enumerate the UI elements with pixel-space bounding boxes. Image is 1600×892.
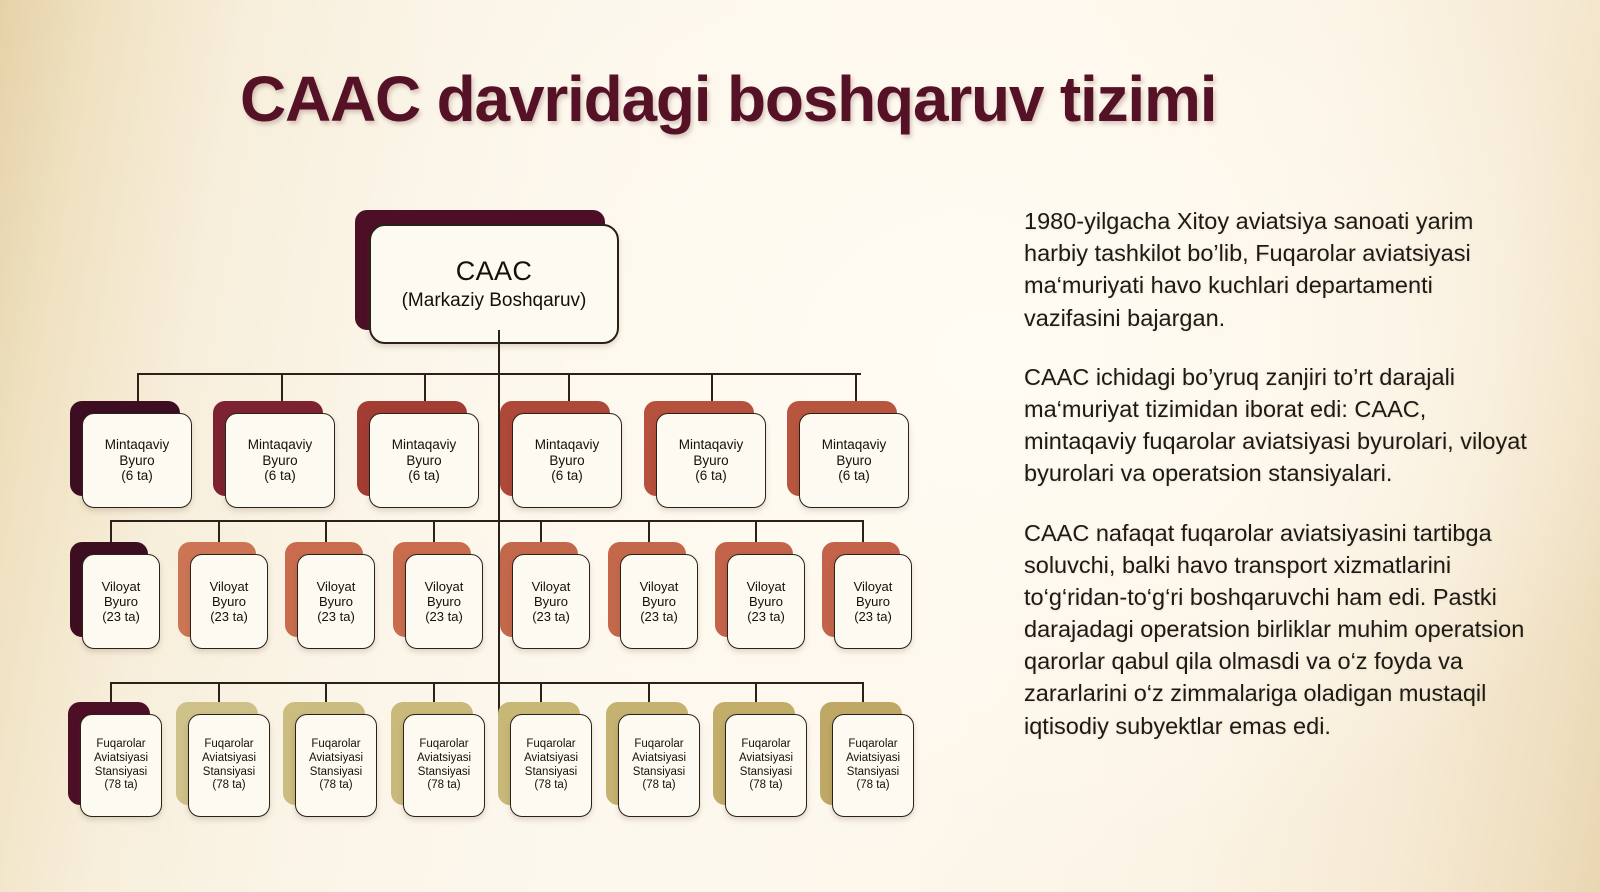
- node-count: (78 ta): [212, 779, 245, 793]
- node-fuqarolar-aviatsiyasi-stansiyasi[interactable]: Fuqarolar Aviatsiyasi Stansiyasi (78 ta): [176, 702, 258, 805]
- node-card: Viloyat Byuro (23 ta): [297, 554, 375, 649]
- connector-tier3-drop-3: [325, 682, 327, 702]
- node-count: (23 ta): [854, 609, 892, 624]
- org-chart: CAAC (Markaziy Boshqaruv) Mintaqaviy Byu…: [0, 190, 960, 830]
- node-card: Mintaqaviy Byuro (6 ta): [369, 413, 479, 508]
- node-line-2: Byuro: [836, 453, 871, 469]
- node-line-2: Byuro: [262, 453, 297, 469]
- connector-tier3-drop-4: [433, 682, 435, 702]
- node-line-2: Byuro: [104, 594, 138, 609]
- node-fuqarolar-aviatsiyasi-stansiyasi[interactable]: Fuqarolar Aviatsiyasi Stansiyasi (78 ta): [498, 702, 580, 805]
- node-viloyat-byuro[interactable]: Viloyat Byuro (23 ta): [608, 542, 686, 637]
- connector-tier3-bus: [110, 682, 862, 684]
- node-card: Mintaqaviy Byuro (6 ta): [225, 413, 335, 508]
- node-count: (23 ta): [640, 609, 678, 624]
- node-card: Fuqarolar Aviatsiyasi Stansiyasi (78 ta): [295, 714, 377, 817]
- node-count: (78 ta): [534, 779, 567, 793]
- node-line-2: Byuro: [119, 453, 154, 469]
- node-card: Viloyat Byuro (23 ta): [82, 554, 160, 649]
- node-card: Fuqarolar Aviatsiyasi Stansiyasi (78 ta): [618, 714, 700, 817]
- node-line-2: Byuro: [534, 594, 568, 609]
- node-line-2: Aviatsiyasi: [309, 752, 363, 766]
- node-card: CAAC (Markaziy Boshqaruv): [369, 224, 619, 344]
- node-card: Mintaqaviy Byuro (6 ta): [656, 413, 766, 508]
- node-line-1: Mintaqaviy: [535, 437, 600, 453]
- node-line-2: Byuro: [549, 453, 584, 469]
- connector-tier1-drop-3: [424, 373, 426, 401]
- connector-tier3-drop-1: [110, 682, 112, 702]
- paragraph-3: CAAC nafaqat fuqarolar aviatsiyasini tar…: [1024, 517, 1530, 742]
- node-fuqarolar-aviatsiyasi-stansiyasi[interactable]: Fuqarolar Aviatsiyasi Stansiyasi (78 ta): [606, 702, 688, 805]
- node-line-3: Stansiyasi: [95, 766, 147, 780]
- connector-tier1-drop-2: [281, 373, 283, 401]
- node-viloyat-byuro[interactable]: Viloyat Byuro (23 ta): [70, 542, 148, 637]
- connector-tier2-drop-6: [648, 520, 650, 542]
- node-line-3: Stansiyasi: [203, 766, 255, 780]
- connector-tier1-drop-5: [711, 373, 713, 401]
- paragraph-1: 1980-yilgacha Xitoy aviatsiya sanoati ya…: [1024, 205, 1530, 334]
- node-card: Fuqarolar Aviatsiyasi Stansiyasi (78 ta): [188, 714, 270, 817]
- node-count: (6 ta): [551, 468, 583, 484]
- connector-tier1-drop-1: [137, 373, 139, 401]
- description-column: 1980-yilgacha Xitoy aviatsiya sanoati ya…: [1024, 205, 1530, 742]
- node-line-2: Byuro: [749, 594, 783, 609]
- node-card: Viloyat Byuro (23 ta): [190, 554, 268, 649]
- node-card: Viloyat Byuro (23 ta): [620, 554, 698, 649]
- node-count: (78 ta): [104, 779, 137, 793]
- node-line-1: Fuqarolar: [634, 738, 683, 752]
- node-count: (23 ta): [102, 609, 140, 624]
- node-count: (23 ta): [747, 609, 785, 624]
- connector-tier2-drop-5: [540, 520, 542, 542]
- connector-tier3-drop-6: [648, 682, 650, 702]
- node-line-1: Mintaqaviy: [679, 437, 744, 453]
- connector-tier2-drop-1: [110, 520, 112, 542]
- node-card: Fuqarolar Aviatsiyasi Stansiyasi (78 ta): [510, 714, 592, 817]
- node-mintaqaviy-byuro[interactable]: Mintaqaviy Byuro (6 ta): [70, 401, 180, 496]
- node-card: Viloyat Byuro (23 ta): [405, 554, 483, 649]
- node-line-1: Viloyat: [102, 579, 141, 594]
- node-line-1: Fuqarolar: [204, 738, 253, 752]
- node-line-2: Byuro: [856, 594, 890, 609]
- connector-tier1-drop-6: [855, 373, 857, 401]
- node-card: Fuqarolar Aviatsiyasi Stansiyasi (78 ta): [832, 714, 914, 817]
- node-card: Fuqarolar Aviatsiyasi Stansiyasi (78 ta): [403, 714, 485, 817]
- node-line-2: Aviatsiyasi: [632, 752, 686, 766]
- node-viloyat-byuro[interactable]: Viloyat Byuro (23 ta): [285, 542, 363, 637]
- node-line-2: Aviatsiyasi: [94, 752, 148, 766]
- node-line-1: Viloyat: [747, 579, 786, 594]
- node-count: (78 ta): [856, 779, 889, 793]
- node-line-2: Byuro: [693, 453, 728, 469]
- node-line-3: Stansiyasi: [418, 766, 470, 780]
- node-line-2: Byuro: [642, 594, 676, 609]
- root-subtitle: (Markaziy Boshqaruv): [402, 290, 587, 312]
- node-count: (23 ta): [425, 609, 463, 624]
- node-line-2: Aviatsiyasi: [739, 752, 793, 766]
- connector-tier2-bus: [110, 520, 862, 522]
- node-card: Fuqarolar Aviatsiyasi Stansiyasi (78 ta): [80, 714, 162, 817]
- node-fuqarolar-aviatsiyasi-stansiyasi[interactable]: Fuqarolar Aviatsiyasi Stansiyasi (78 ta): [820, 702, 902, 805]
- infographic-page: CAAC davridagi boshqaruv tizimi CAAC (Ma…: [0, 0, 1600, 892]
- node-mintaqaviy-byuro[interactable]: Mintaqaviy Byuro (6 ta): [357, 401, 467, 496]
- node-mintaqaviy-byuro[interactable]: Mintaqaviy Byuro (6 ta): [500, 401, 610, 496]
- node-caac-root[interactable]: CAAC (Markaziy Boshqaruv): [355, 210, 605, 330]
- node-line-1: Viloyat: [317, 579, 356, 594]
- node-line-2: Aviatsiyasi: [846, 752, 900, 766]
- node-count: (23 ta): [532, 609, 570, 624]
- node-card: Viloyat Byuro (23 ta): [512, 554, 590, 649]
- node-card: Mintaqaviy Byuro (6 ta): [82, 413, 192, 508]
- connector-tier2-drop-3: [325, 520, 327, 542]
- root-title: CAAC: [456, 256, 533, 288]
- node-count: (6 ta): [695, 468, 727, 484]
- node-count: (6 ta): [121, 468, 153, 484]
- node-viloyat-byuro[interactable]: Viloyat Byuro (23 ta): [393, 542, 471, 637]
- node-line-3: Stansiyasi: [525, 766, 577, 780]
- node-count: (6 ta): [408, 468, 440, 484]
- node-line-3: Stansiyasi: [310, 766, 362, 780]
- node-line-2: Aviatsiyasi: [524, 752, 578, 766]
- page-title: CAAC davridagi boshqaruv tizimi: [240, 62, 1216, 136]
- node-count: (78 ta): [642, 779, 675, 793]
- node-line-1: Fuqarolar: [311, 738, 360, 752]
- connector-tier3-drop-5: [540, 682, 542, 702]
- node-count: (78 ta): [427, 779, 460, 793]
- node-line-2: Byuro: [319, 594, 353, 609]
- node-mintaqaviy-byuro[interactable]: Mintaqaviy Byuro (6 ta): [644, 401, 754, 496]
- connector-tier2-drop-2: [218, 520, 220, 542]
- node-viloyat-byuro[interactable]: Viloyat Byuro (23 ta): [178, 542, 256, 637]
- node-line-1: Mintaqaviy: [105, 437, 170, 453]
- node-mintaqaviy-byuro[interactable]: Mintaqaviy Byuro (6 ta): [213, 401, 323, 496]
- node-line-2: Byuro: [406, 453, 441, 469]
- node-fuqarolar-aviatsiyasi-stansiyasi[interactable]: Fuqarolar Aviatsiyasi Stansiyasi (78 ta): [391, 702, 473, 805]
- connector-tier2-drop-4: [433, 520, 435, 542]
- node-mintaqaviy-byuro[interactable]: Mintaqaviy Byuro (6 ta): [787, 401, 897, 496]
- node-count: (6 ta): [838, 468, 870, 484]
- node-line-1: Fuqarolar: [741, 738, 790, 752]
- node-line-2: Aviatsiyasi: [202, 752, 256, 766]
- node-viloyat-byuro[interactable]: Viloyat Byuro (23 ta): [822, 542, 900, 637]
- connector-tier3-drop-2: [218, 682, 220, 702]
- node-line-1: Viloyat: [210, 579, 249, 594]
- node-card: Viloyat Byuro (23 ta): [727, 554, 805, 649]
- node-line-2: Byuro: [212, 594, 246, 609]
- node-viloyat-byuro[interactable]: Viloyat Byuro (23 ta): [500, 542, 578, 637]
- node-line-2: Byuro: [427, 594, 461, 609]
- node-line-1: Viloyat: [854, 579, 893, 594]
- node-line-1: Mintaqaviy: [822, 437, 887, 453]
- node-line-1: Fuqarolar: [96, 738, 145, 752]
- node-card: Viloyat Byuro (23 ta): [834, 554, 912, 649]
- node-count: (78 ta): [319, 779, 352, 793]
- node-card: Fuqarolar Aviatsiyasi Stansiyasi (78 ta): [725, 714, 807, 817]
- node-card: Mintaqaviy Byuro (6 ta): [799, 413, 909, 508]
- connector-tier2-drop-7: [755, 520, 757, 542]
- node-card: Mintaqaviy Byuro (6 ta): [512, 413, 622, 508]
- connector-tier3-drop-7: [755, 682, 757, 702]
- node-fuqarolar-aviatsiyasi-stansiyasi[interactable]: Fuqarolar Aviatsiyasi Stansiyasi (78 ta): [68, 702, 150, 805]
- node-line-1: Viloyat: [532, 579, 571, 594]
- node-line-2: Aviatsiyasi: [417, 752, 471, 766]
- node-count: (78 ta): [749, 779, 782, 793]
- node-line-3: Stansiyasi: [633, 766, 685, 780]
- node-fuqarolar-aviatsiyasi-stansiyasi[interactable]: Fuqarolar Aviatsiyasi Stansiyasi (78 ta): [283, 702, 365, 805]
- node-line-3: Stansiyasi: [740, 766, 792, 780]
- node-count: (6 ta): [264, 468, 296, 484]
- node-line-1: Mintaqaviy: [248, 437, 313, 453]
- node-line-1: Fuqarolar: [526, 738, 575, 752]
- node-count: (23 ta): [210, 609, 248, 624]
- node-count: (23 ta): [317, 609, 355, 624]
- paragraph-2: CAAC ichidagi bo’yruq zanjiri to’rt dara…: [1024, 361, 1530, 490]
- node-line-1: Mintaqaviy: [392, 437, 457, 453]
- connector-tier2-drop-8: [862, 520, 864, 542]
- node-fuqarolar-aviatsiyasi-stansiyasi[interactable]: Fuqarolar Aviatsiyasi Stansiyasi (78 ta): [713, 702, 795, 805]
- connector-trunk: [498, 330, 500, 720]
- node-line-1: Viloyat: [425, 579, 464, 594]
- node-line-1: Fuqarolar: [848, 738, 897, 752]
- connector-tier3-drop-8: [862, 682, 864, 702]
- connector-tier1-drop-4: [568, 373, 570, 401]
- node-viloyat-byuro[interactable]: Viloyat Byuro (23 ta): [715, 542, 793, 637]
- node-line-1: Fuqarolar: [419, 738, 468, 752]
- node-line-1: Viloyat: [640, 579, 679, 594]
- node-line-3: Stansiyasi: [847, 766, 899, 780]
